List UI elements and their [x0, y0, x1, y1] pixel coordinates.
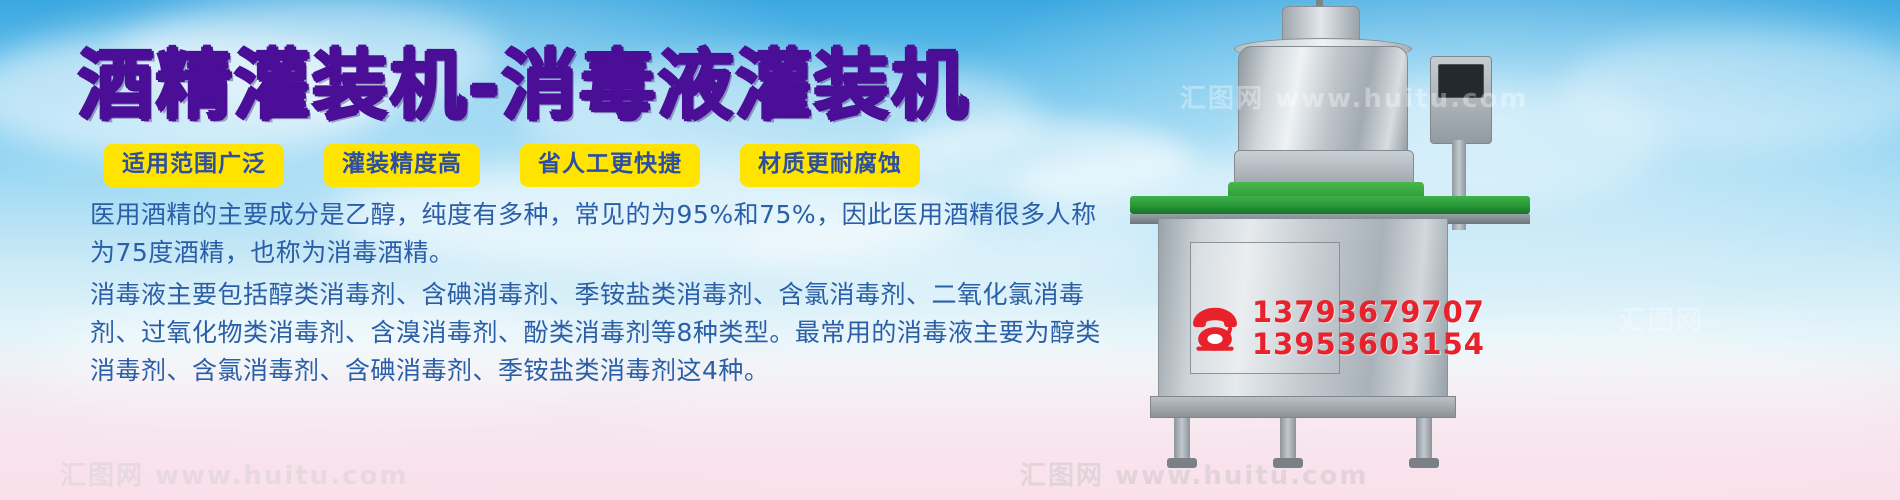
machine-conveyor-base — [1130, 214, 1530, 224]
machine-cap-head — [1282, 6, 1360, 46]
cloud-decoration — [1560, 30, 1900, 150]
phone-number-1[interactable]: 13793679707 — [1252, 296, 1485, 328]
machine-foot — [1409, 458, 1439, 468]
paragraph-alcohol: 医用酒精的主要成分是乙醇，纯度有多种，常见的为95%和75%，因此医用酒精很多人… — [90, 196, 1102, 272]
feature-tag-list: 适用范围广泛 灌装精度高 省人工更快捷 材质更耐腐蚀 — [104, 144, 920, 187]
contact-phone-block[interactable]: 13793679707 13953603154 — [1188, 296, 1485, 361]
watermark: 汇图网 www.huitu.com — [1020, 455, 1368, 492]
feature-tag-3: 省人工更快捷 — [520, 144, 700, 187]
machine-leg — [1174, 418, 1190, 462]
promo-banner: 1 2 3 4 5 6 7 8 汇图网 www.huitu.com 汇图网 汇图… — [0, 0, 1900, 500]
phone-number-2[interactable]: 13953603154 — [1252, 328, 1485, 360]
page-title: 酒精灌装机-消毒液灌装机 — [78, 48, 970, 124]
machine-foot — [1273, 458, 1303, 468]
machine-drum-top — [1234, 38, 1412, 60]
machine-drum: 1 2 3 4 5 6 7 8 — [1238, 46, 1408, 164]
phone-number-list: 13793679707 13953603154 — [1252, 296, 1485, 361]
machine-turret — [1234, 150, 1414, 190]
machine-conveyor — [1130, 196, 1530, 214]
machine-leg — [1280, 418, 1296, 462]
watermark: 汇图网 www.huitu.com — [1180, 78, 1528, 115]
machine-control-panel — [1430, 56, 1492, 144]
machine-screen — [1438, 64, 1484, 98]
machine-leg — [1416, 418, 1432, 462]
dial-number: 7 — [1373, 157, 1379, 167]
machine-green-rail — [1228, 182, 1424, 208]
telephone-icon — [1188, 301, 1242, 355]
feature-tag-2: 灌装精度高 — [324, 144, 480, 187]
cloud-decoration — [1240, 80, 1660, 210]
dial-number: 3 — [1293, 157, 1299, 167]
watermark: 汇图网 — [1620, 300, 1704, 337]
paragraph-disinfectant: 消毒液主要包括醇类消毒剂、含碘消毒剂、季铵盐类消毒剂、含氯消毒剂、二氧化氯消毒剂… — [90, 276, 1102, 390]
watermark: 汇图网 www.huitu.com — [60, 455, 408, 492]
feature-tag-1: 适用范围广泛 — [104, 144, 284, 187]
dial-number: 5 — [1333, 157, 1339, 167]
cloud-decoration — [890, 118, 1190, 198]
dial-number: 2 — [1273, 157, 1279, 167]
dial-number: 8 — [1391, 157, 1397, 167]
feature-tag-4: 材质更耐腐蚀 — [740, 144, 920, 187]
machine-panel-post — [1452, 140, 1466, 230]
filling-machine-photo: 1 2 3 4 5 6 7 8 — [1130, 0, 1530, 470]
dial-number: 1 — [1253, 157, 1259, 167]
machine-rod — [1316, 0, 1323, 16]
dial-number: 4 — [1313, 157, 1319, 167]
machine-foot — [1167, 458, 1197, 468]
machine-base — [1150, 396, 1456, 418]
description-text: 医用酒精的主要成分是乙醇，纯度有多种，常见的为95%和75%，因此医用酒精很多人… — [90, 196, 1102, 390]
dial-number: 6 — [1353, 157, 1359, 167]
